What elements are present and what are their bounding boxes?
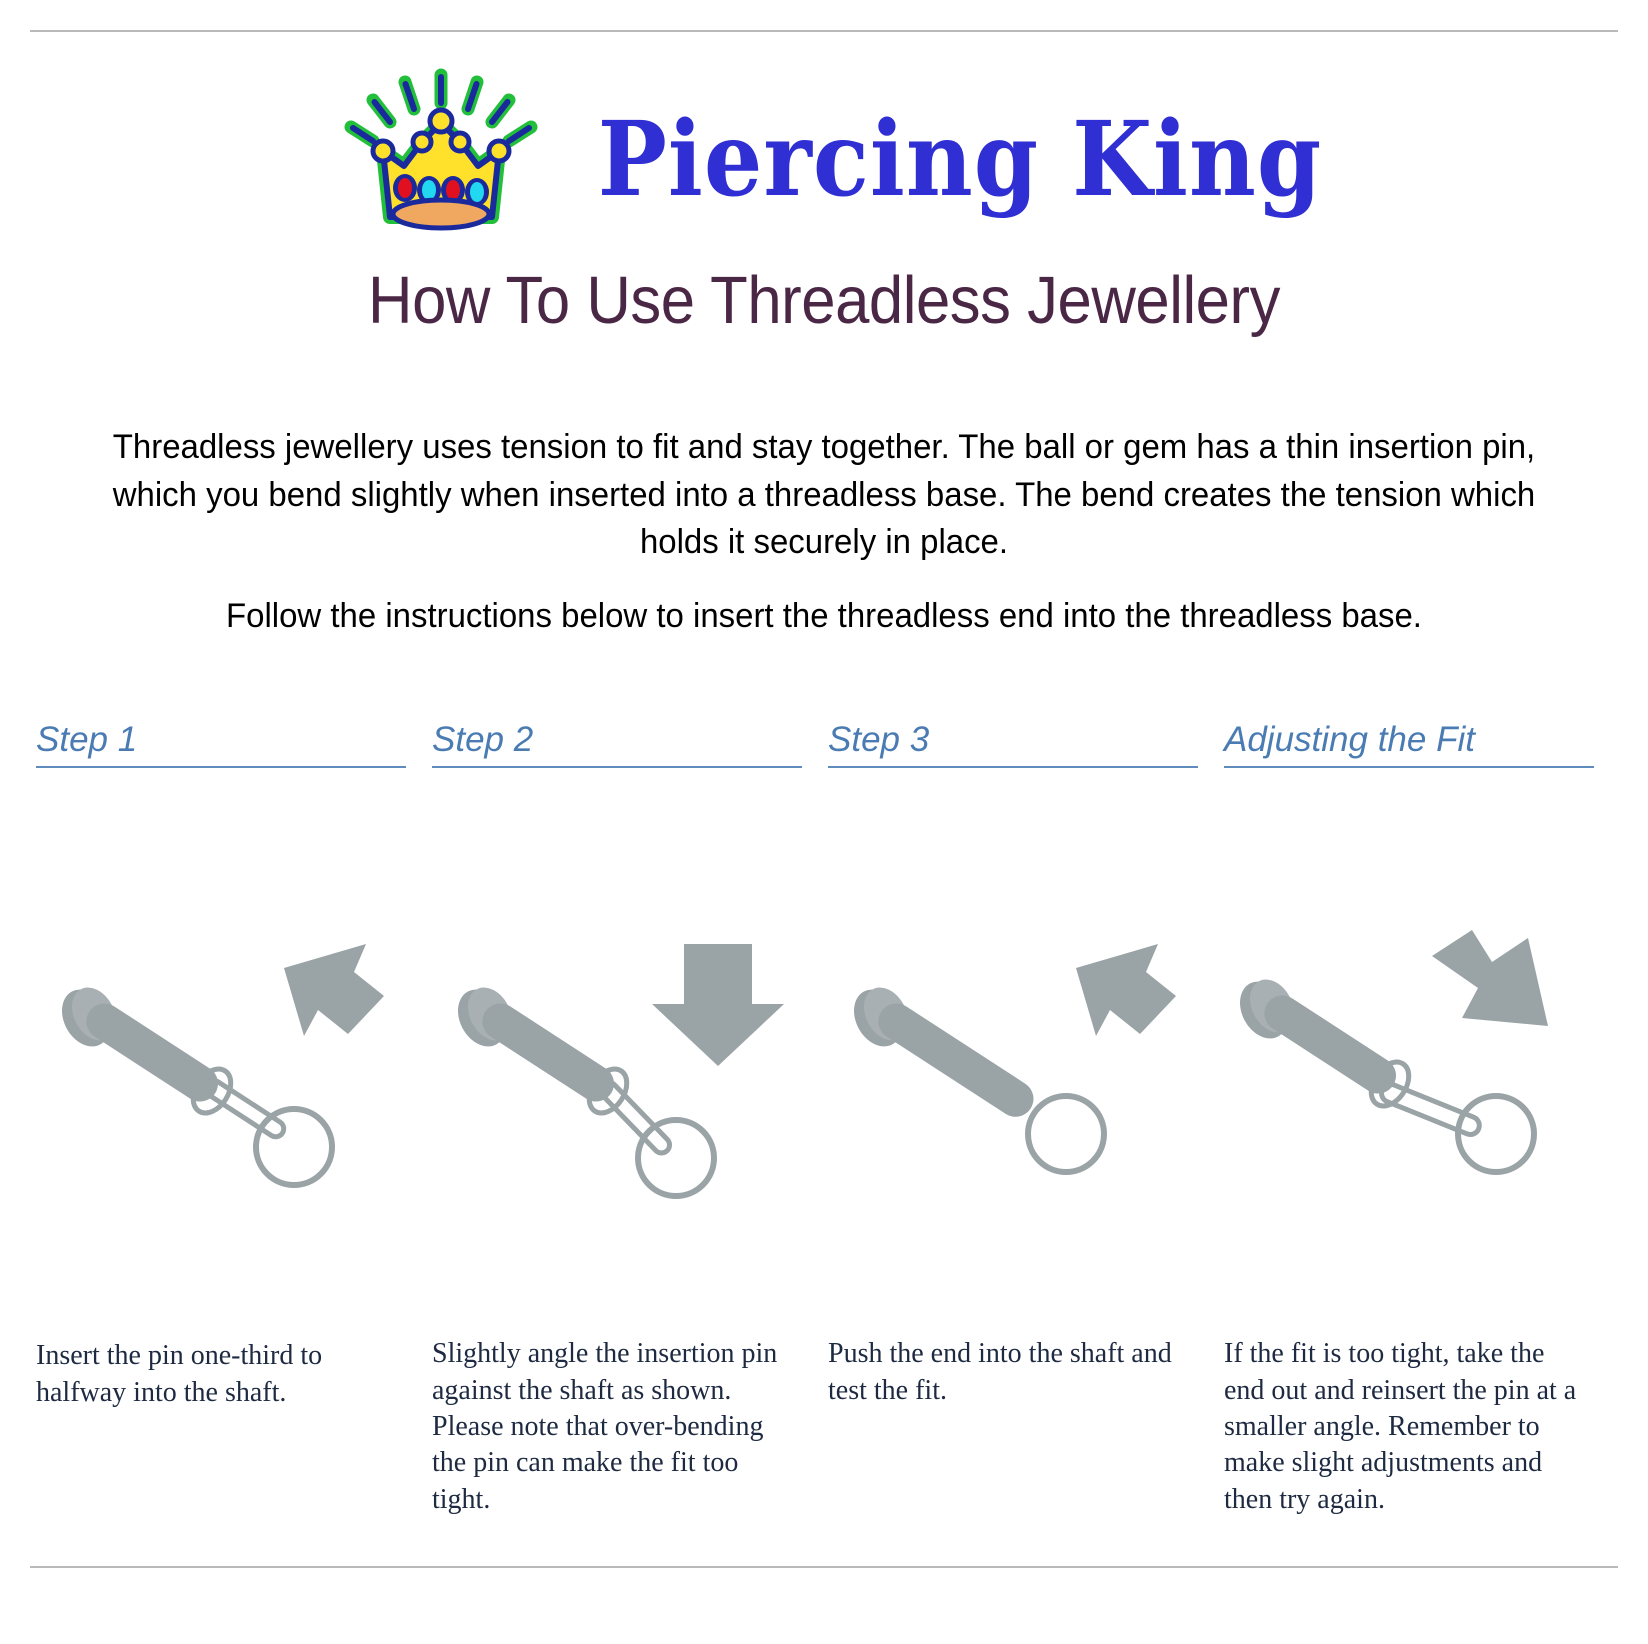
brand-header: Piercing King — [0, 62, 1648, 242]
labret-illustration-2 — [432, 906, 798, 1216]
brand-wordmark: Piercing King — [598, 107, 1322, 210]
document-page: Piercing King How To Use Threadless Jewe… — [0, 0, 1648, 1644]
steps-grid: Step 1 — [36, 720, 1620, 1518]
step-caption-1: Insert the pin one-third to halfway into… — [36, 1338, 402, 1411]
page-top-rule — [30, 30, 1618, 32]
step-heading-4: Adjusting the Fit — [1224, 720, 1594, 768]
step-heading-1: Step 1 — [36, 720, 406, 768]
step-column-2: Step 2 — [432, 720, 828, 1518]
labret-illustration-4 — [1224, 906, 1590, 1216]
step-column-3: Step 3 Push the end into the shaft a — [828, 720, 1224, 1518]
intro-paragraph-2: Follow the instructions below to insert … — [73, 593, 1574, 641]
crown-icon — [326, 65, 556, 240]
labret-illustration-1 — [36, 906, 402, 1216]
page-title: How To Use Threadless Jewellery — [66, 266, 1582, 336]
step-heading-3: Step 3 — [828, 720, 1198, 768]
page-bottom-rule — [30, 1566, 1618, 1568]
step-column-4: Adjusting the Fit — [1224, 720, 1620, 1518]
step-caption-2: Slightly angle the insertion pin against… — [432, 1336, 798, 1518]
labret-illustration-3 — [828, 906, 1194, 1216]
intro-paragraph-1: Threadless jewellery uses tension to fit… — [73, 424, 1574, 567]
step-heading-2: Step 2 — [432, 720, 802, 768]
step-caption-3: Push the end into the shaft and test the… — [828, 1336, 1194, 1409]
step-column-1: Step 1 — [36, 720, 432, 1518]
intro-text: Threadless jewellery uses tension to fit… — [73, 424, 1574, 640]
step-caption-4: If the fit is too tight, take the end ou… — [1224, 1336, 1590, 1518]
